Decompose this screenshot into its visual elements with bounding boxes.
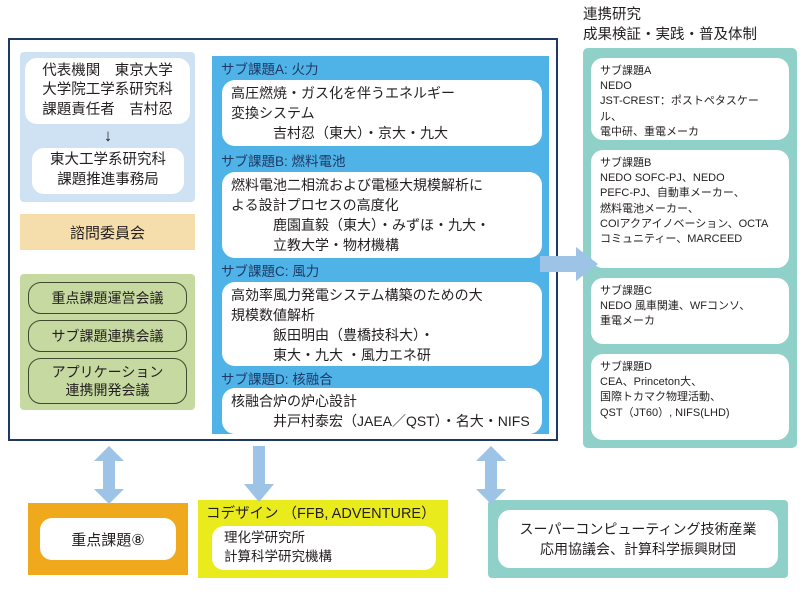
project-office-card: 東大工学系研究科 課題推進事務局	[32, 148, 184, 194]
lead-organization-card: 代表機関 東京大学 大学院工学系研究科 課題責任者 吉村忍	[25, 58, 190, 124]
subtheme-b-title: 燃料電池二相流および電極大規模解析に よる設計プロセスの高度化	[231, 177, 483, 213]
subtheme-c-title: 高効率風力発電システム構築のための大 規模数値解析	[231, 287, 483, 323]
subtheme-d-title: 核融合炉の炉心設計	[231, 393, 357, 409]
subtheme-b-members: 鹿園直毅（東大）・みずほ・九大・ 立教大学・物材機構	[231, 216, 533, 256]
partner-card-a[interactable]: サブ課題A NEDO JST-CREST：ポストペタスケール、 電中研、重電メー…	[591, 58, 789, 140]
partner-c-body: NEDO 風車関連、WFコンソ、 重電メーカ	[600, 299, 780, 329]
subtheme-b-label: サブ課題B: 燃料電池	[218, 152, 548, 171]
advisory-committee-box: 諮問委員会	[20, 214, 195, 250]
partner-b-body: NEDO SOFC-PJ、NEDO PEFC-PJ、自動車メーカー、 燃料電池メ…	[600, 171, 780, 247]
subtheme-c-card[interactable]: 高効率風力発電システム構築のための大 規模数値解析 飯田明由（豊橋技科大）・ 東…	[222, 282, 542, 366]
subtheme-d-label: サブ課題D: 核融合	[218, 370, 548, 389]
subtheme-d-card[interactable]: 核融合炉の炉心設計 井戸村泰宏（JAEA／QST）・名大・NIFS	[222, 388, 542, 434]
subtheme-a-label: サブ課題A: 火力	[218, 60, 548, 79]
partner-a-body: NEDO JST-CREST：ポストペタスケール、 電中研、重電メーカ	[600, 79, 780, 140]
partner-c-title: サブ課題C	[600, 285, 652, 297]
subtheme-c-label: サブ課題C: 風力	[218, 262, 548, 281]
subtheme-d-members: 井戸村泰宏（JAEA／QST）・名大・NIFS	[231, 412, 533, 432]
codesign-title: コデザイン （FFB, ADVENTURE）	[206, 503, 446, 525]
meeting-item-operations[interactable]: 重点課題運営会議	[28, 282, 187, 314]
supercomputing-organizations: スーパーコンピューティング技術産業 応用協議会、計算科学振興財団	[498, 510, 778, 568]
codesign-organizations: 理化学研究所 計算科学研究機構	[212, 526, 436, 570]
key-issue-label: 重点課題⑧	[40, 518, 176, 560]
partner-card-b[interactable]: サブ課題B NEDO SOFC-PJ、NEDO PEFC-PJ、自動車メーカー、…	[591, 150, 789, 268]
collaborative-research-header: 連携研究 成果検証・実践・普及体制	[583, 6, 798, 46]
subtheme-a-title: 高圧燃焼・ガス化を伴うエネルギー 変換システム	[231, 85, 455, 121]
arrow-double-key-issue-icon	[94, 446, 124, 504]
arrow-double-supercomputing-icon	[476, 446, 506, 504]
subtheme-a-card[interactable]: 高圧燃焼・ガス化を伴うエネルギー 変換システム 吉村忍（東大）・京大・九大	[222, 80, 542, 146]
down-arrow-icon: ↓	[96, 126, 120, 146]
partner-card-d[interactable]: サブ課題D CEA、Princeton大、 国際トカマク物理活動、 QST（JT…	[591, 354, 789, 440]
partner-card-c[interactable]: サブ課題C NEDO 風車関連、WFコンソ、 重電メーカ	[591, 278, 789, 344]
meeting-item-application-development[interactable]: アプリケーション 連携開発会議	[28, 358, 187, 404]
partner-d-title: サブ課題D	[600, 361, 652, 373]
subtheme-b-card[interactable]: 燃料電池二相流および電極大規模解析に よる設計プロセスの高度化 鹿園直毅（東大）…	[222, 172, 542, 258]
subtheme-c-members: 飯田明由（豊橋技科大）・ 東大・九大 ・風力エネ研	[231, 326, 533, 366]
meeting-item-subtheme-liaison[interactable]: サブ課題連携会議	[28, 320, 187, 352]
partner-d-body: CEA、Princeton大、 国際トカマク物理活動、 QST（JT60）, N…	[600, 375, 780, 421]
partner-b-title: サブ課題B	[600, 157, 651, 169]
subtheme-a-members: 吉村忍（東大）・京大・九大	[231, 124, 533, 144]
arrow-down-codesign-icon	[244, 446, 274, 502]
partner-a-title: サブ課題A	[600, 65, 651, 77]
